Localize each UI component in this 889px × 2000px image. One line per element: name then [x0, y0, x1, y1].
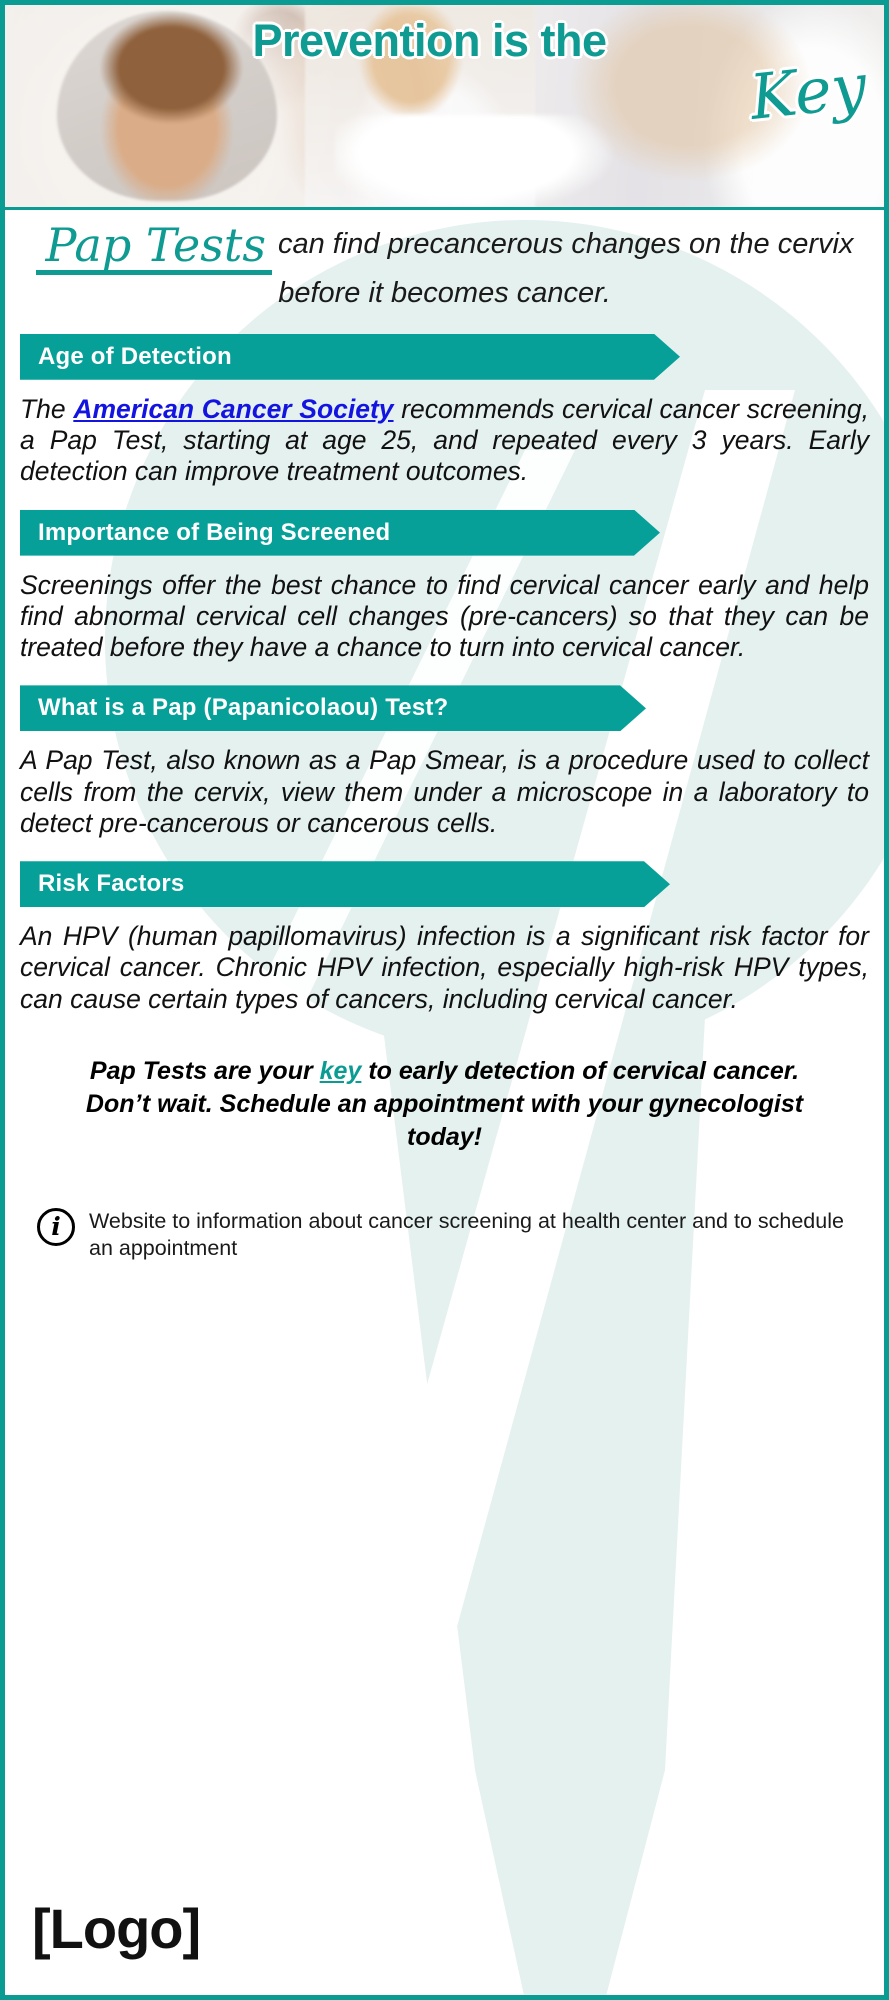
info-icon: i [37, 1208, 75, 1246]
section-text-importance-of-being-screened: Screenings offer the best chance to find… [15, 570, 874, 664]
call-to-action: Pap Tests are your key to early detectio… [63, 1055, 826, 1154]
section-text-risk-factors: An HPV (human papillomavirus) infection … [15, 921, 874, 1015]
section-text-what-is-a-pap-test: A Pap Test, also known as a Pap Smear, i… [15, 745, 874, 839]
hero-photo-coat [335, 115, 665, 210]
cta-part-1: Pap Tests are your [90, 1057, 320, 1085]
intro-block: Pap Testscan find precancerous changes o… [15, 224, 874, 312]
section-banner-what-is-a-pap-test: What is a Pap (Papanicolaou) Test? [20, 685, 646, 731]
hero-header: Prevention is the Key [5, 5, 884, 210]
text-before-link: The [20, 394, 73, 424]
intro-script-word: Pap Tests [36, 224, 272, 275]
page-title: Prevention is the [5, 15, 884, 67]
intro-text: can find precancerous changes on the cer… [278, 228, 854, 309]
section-text-age-of-detection: The American Cancer Society recommends c… [15, 394, 874, 488]
poster-content: Pap Testscan find precancerous changes o… [5, 224, 884, 1262]
american-cancer-society-link[interactable]: American Cancer Society [73, 394, 393, 424]
hero-script-key: Key [746, 49, 869, 134]
logo-placeholder: [Logo] [32, 1896, 200, 1961]
infographic-poster: Prevention is the Key Pap Testsc [0, 0, 889, 2000]
key-link[interactable]: key [320, 1057, 362, 1085]
section-banner-age-of-detection: Age of Detection [20, 334, 680, 380]
section-banner-risk-factors: Risk Factors [20, 861, 670, 907]
section-banner-importance-of-being-screened: Importance of Being Screened [20, 510, 660, 556]
footer-note-text: Website to information about cancer scre… [89, 1206, 846, 1262]
footer-note: i Website to information about cancer sc… [37, 1206, 846, 1262]
